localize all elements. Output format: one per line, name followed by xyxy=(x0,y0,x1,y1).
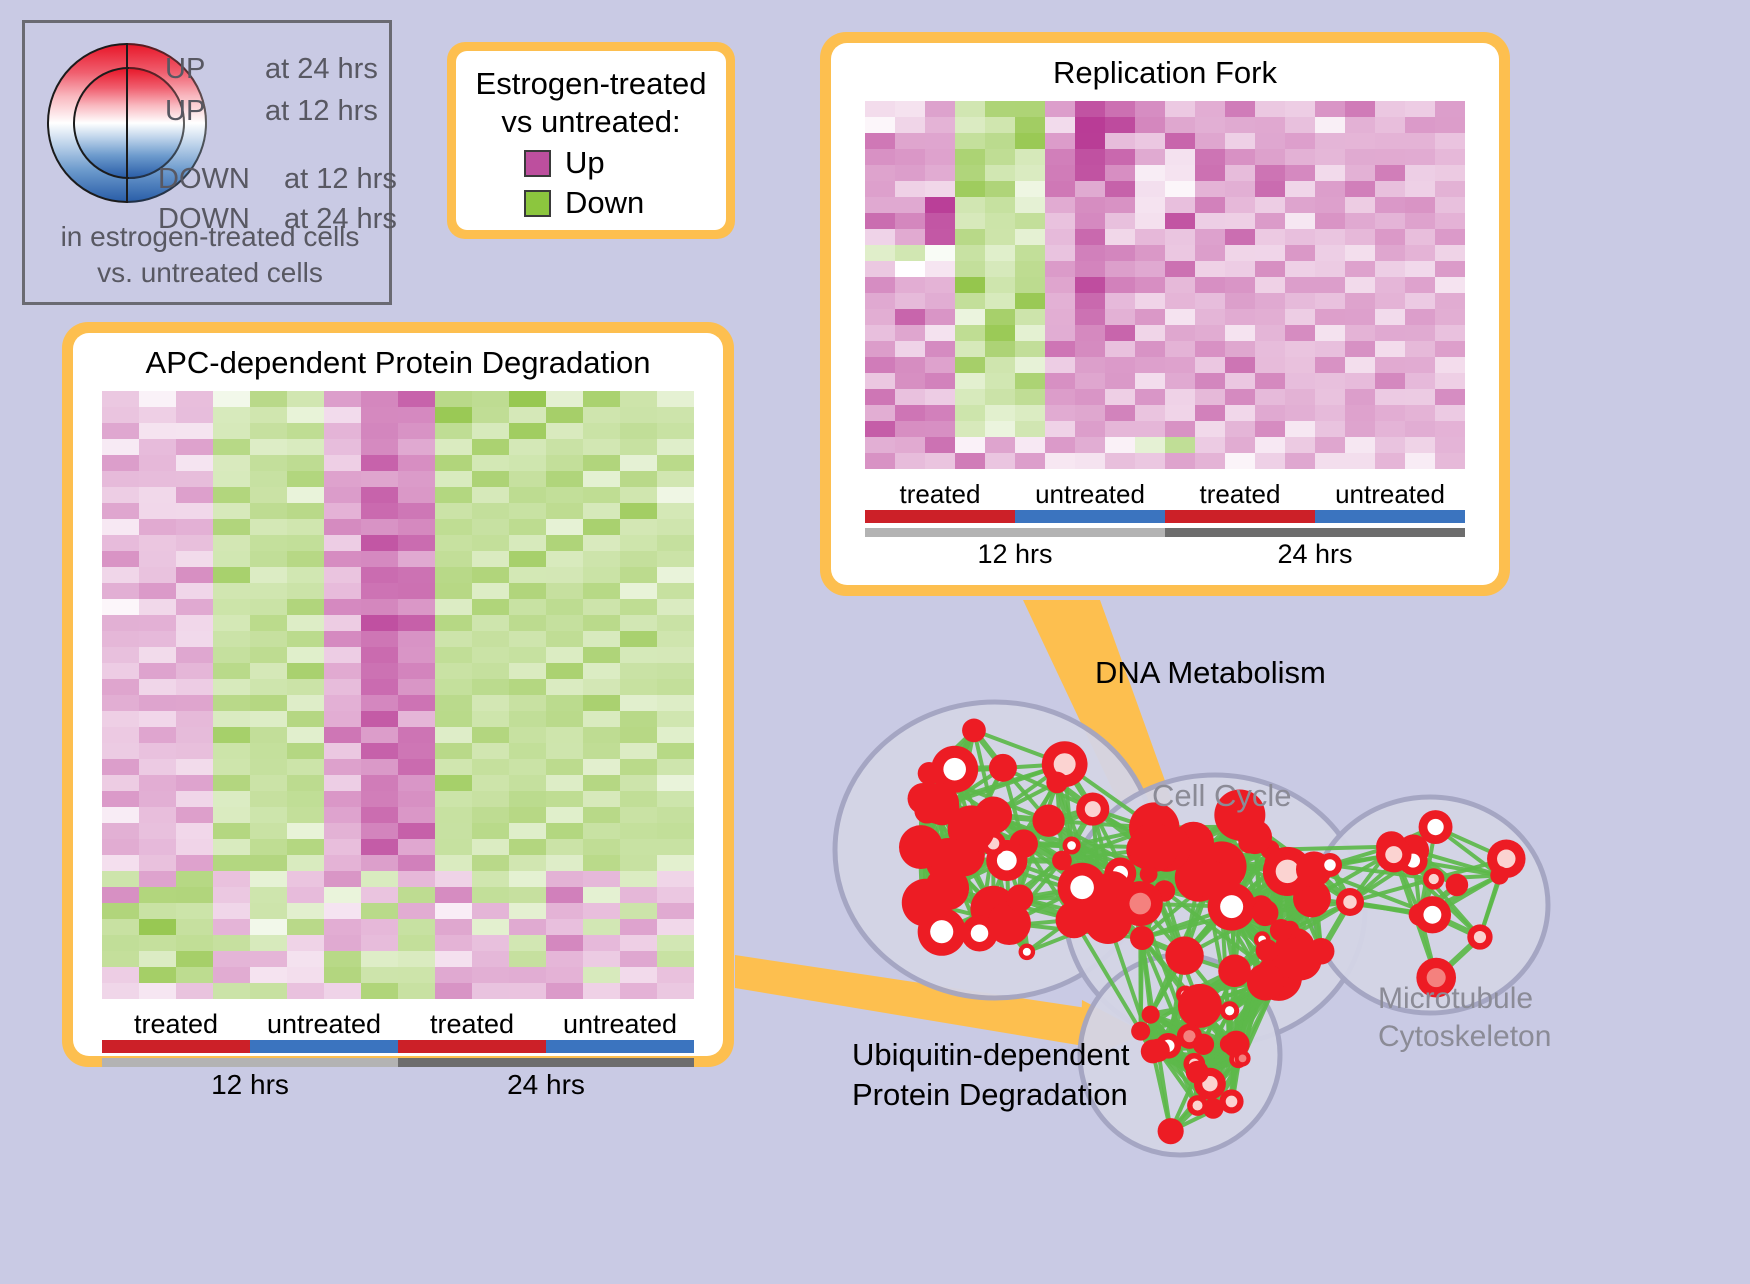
heatmap-cell xyxy=(472,423,509,439)
heatmap-cell xyxy=(1015,357,1045,373)
heatmap-cell xyxy=(1225,421,1255,437)
untreated-color-bar xyxy=(1015,510,1165,523)
heatmap-cell xyxy=(1195,245,1225,261)
heatmap-cell xyxy=(1015,309,1045,325)
ubiquitin-line2: Protein Degradation xyxy=(852,1075,1130,1115)
network-node[interactable] xyxy=(1140,865,1158,883)
heatmap-cell xyxy=(620,679,657,695)
heatmap-cell xyxy=(213,535,250,551)
heatmap-cell xyxy=(398,871,435,887)
heatmap-cell xyxy=(657,935,694,951)
heatmap-cell xyxy=(139,887,176,903)
time-group-label: 12 hrs xyxy=(865,539,1165,570)
heatmap-cell xyxy=(925,373,955,389)
heatmap-cell xyxy=(250,871,287,887)
heatmap-cell xyxy=(287,839,324,855)
heatmap-cell xyxy=(895,293,925,309)
heatmap-cell xyxy=(1345,357,1375,373)
heatmap-cell xyxy=(139,535,176,551)
heatmap-cell xyxy=(213,471,250,487)
heatmap-cell xyxy=(139,487,176,503)
heatmap-cell xyxy=(1105,165,1135,181)
network-node[interactable] xyxy=(1336,888,1364,916)
heatmap-cell xyxy=(102,503,139,519)
network-node[interactable] xyxy=(1219,1089,1243,1113)
heatmap-cell xyxy=(1195,181,1225,197)
heatmap-cell xyxy=(546,439,583,455)
heatmap-cell xyxy=(985,309,1015,325)
heatmap-cell xyxy=(250,679,287,695)
heatmap-cell xyxy=(1135,453,1165,469)
heatmap-cell xyxy=(620,487,657,503)
heatmap-cell xyxy=(1255,309,1285,325)
heatmap-cell xyxy=(1225,197,1255,213)
heatmap-cell xyxy=(620,471,657,487)
heatmap-cell xyxy=(472,455,509,471)
heatmap-cell xyxy=(1135,309,1165,325)
heatmap-cell xyxy=(1285,101,1315,117)
heatmap-cell xyxy=(1405,405,1435,421)
heatmap-cell xyxy=(1045,357,1075,373)
network-node[interactable] xyxy=(1131,1022,1150,1041)
heatmap-cell xyxy=(865,437,895,453)
heatmap-cell xyxy=(509,871,546,887)
heatmap-cell xyxy=(955,181,985,197)
heatmap-cell xyxy=(865,453,895,469)
network-node[interactable] xyxy=(1084,896,1132,944)
network-node[interactable] xyxy=(1252,899,1279,926)
heatmap-cell xyxy=(1165,309,1195,325)
heatmap-cell xyxy=(361,775,398,791)
heatmap-cell xyxy=(509,807,546,823)
heatmap-cell xyxy=(1405,293,1435,309)
heatmap-cell xyxy=(657,711,694,727)
heatmap-cell xyxy=(324,823,361,839)
heatmap-cell xyxy=(1105,341,1135,357)
network-node[interactable] xyxy=(1247,963,1284,1000)
heatmap-cell xyxy=(287,871,324,887)
network-node[interactable] xyxy=(1220,1001,1239,1020)
heatmap-cell xyxy=(955,117,985,133)
network-node[interactable] xyxy=(1129,823,1178,872)
heatmap-cell xyxy=(1195,341,1225,357)
network-node[interactable] xyxy=(1423,868,1444,889)
heatmap-cell xyxy=(1045,421,1075,437)
heatmap-cell xyxy=(1345,309,1375,325)
heatmap-cell xyxy=(213,935,250,951)
heatmap-cell xyxy=(213,967,250,983)
heatmap-cell xyxy=(139,695,176,711)
heatmap-cell xyxy=(925,325,955,341)
network-node[interactable] xyxy=(1006,885,1033,912)
heatmap-cell xyxy=(1345,197,1375,213)
legend-item-up: Up xyxy=(524,145,716,181)
heatmap-cell xyxy=(139,935,176,951)
heatmap-cell xyxy=(213,679,250,695)
heatmap-cell xyxy=(1195,421,1225,437)
heatmap-cell xyxy=(1135,437,1165,453)
heatmap-cell xyxy=(435,967,472,983)
heatmap-cell xyxy=(583,711,620,727)
heatmap-cell xyxy=(657,647,694,663)
network-node[interactable] xyxy=(1238,820,1272,854)
heatmap-cell xyxy=(865,133,895,149)
gradient-circle-legend: UP at 24 hrs UP at 12 hrs DOWN at 12 hrs… xyxy=(22,20,392,305)
heatmap-cell xyxy=(435,407,472,423)
heatmap-cell xyxy=(1015,373,1045,389)
heatmap-cell xyxy=(287,855,324,871)
heatmap-cell xyxy=(865,229,895,245)
panel-apc-degradation: APC-dependent Protein Degradation treate… xyxy=(62,322,734,1067)
heatmap-cell xyxy=(324,951,361,967)
network-node[interactable] xyxy=(1191,1066,1207,1082)
heatmap-cell xyxy=(287,935,324,951)
heatmap-cell xyxy=(509,487,546,503)
heatmap-cell xyxy=(1225,261,1255,277)
heatmap-cell xyxy=(361,711,398,727)
heatmap-cell xyxy=(657,455,694,471)
heatmap-cell xyxy=(657,887,694,903)
heatmap-cell xyxy=(1255,421,1285,437)
heatmap-cell xyxy=(1015,453,1045,469)
network-node[interactable] xyxy=(1032,805,1064,837)
heatmap-cell xyxy=(1255,245,1285,261)
heatmap-cell xyxy=(1105,133,1135,149)
heatmap-cell xyxy=(583,775,620,791)
heatmap-cell xyxy=(1315,453,1345,469)
heatmap-cell xyxy=(102,391,139,407)
heatmap-cell xyxy=(509,503,546,519)
heatmap-cell xyxy=(1015,101,1045,117)
heatmap-cell xyxy=(139,407,176,423)
heatmap-cell xyxy=(287,679,324,695)
heatmap-cell xyxy=(287,983,324,999)
heatmap-cell xyxy=(435,439,472,455)
heatmap-cell xyxy=(287,807,324,823)
heatmap-cell xyxy=(955,197,985,213)
heatmap-cell xyxy=(1135,101,1165,117)
heatmap-cell xyxy=(955,293,985,309)
heatmap-cell xyxy=(361,663,398,679)
heatmap-cell xyxy=(1435,357,1465,373)
heatmap-cell xyxy=(1285,261,1315,277)
heatmap-cell xyxy=(509,663,546,679)
heatmap-cell xyxy=(287,727,324,743)
heatmap-cell xyxy=(895,213,925,229)
heatmap-cell xyxy=(583,599,620,615)
heatmap-cell xyxy=(1285,405,1315,421)
column-group-label: treated xyxy=(398,1009,546,1040)
heatmap-cell xyxy=(985,181,1015,197)
heatmap-cell xyxy=(213,823,250,839)
heatmap-cell xyxy=(1225,437,1255,453)
heatmap-cell xyxy=(1285,325,1315,341)
heatmap-cell xyxy=(398,791,435,807)
heatmap-cell xyxy=(1255,197,1285,213)
heatmap-cell xyxy=(472,551,509,567)
heatmap-cell xyxy=(985,389,1015,405)
heatmap-cell xyxy=(1165,437,1195,453)
heatmap-cell xyxy=(509,679,546,695)
heatmap-cell xyxy=(250,807,287,823)
heatmap-cell xyxy=(620,711,657,727)
time-group-labels: 12 hrs24 hrs xyxy=(865,539,1465,570)
heatmap-cell xyxy=(472,647,509,663)
heatmap-cell xyxy=(176,951,213,967)
heatmap-cell xyxy=(1405,245,1435,261)
heatmap-cell xyxy=(546,615,583,631)
heatmap-cell xyxy=(1135,181,1165,197)
network-node[interactable] xyxy=(1256,939,1279,962)
heatmap-cell xyxy=(1405,389,1435,405)
heatmap-cell xyxy=(1255,293,1285,309)
heatmap-cell xyxy=(1345,133,1375,149)
heatmap-cell xyxy=(1255,101,1285,117)
time-group-bar xyxy=(1165,528,1465,537)
network-node[interactable] xyxy=(1063,836,1081,854)
heatmap-cell xyxy=(250,983,287,999)
heatmap-cell xyxy=(1015,117,1045,133)
heatmap-cell xyxy=(925,309,955,325)
network-node[interactable] xyxy=(1178,984,1222,1028)
heatmap-cell xyxy=(472,503,509,519)
heatmap-cell xyxy=(1165,133,1195,149)
heatmap-cell xyxy=(1435,245,1465,261)
heatmap-cell xyxy=(583,727,620,743)
heatmap-cell xyxy=(435,759,472,775)
heatmap-cell xyxy=(287,903,324,919)
network-node[interactable] xyxy=(1376,837,1411,872)
heatmap-cell xyxy=(1165,277,1195,293)
heatmap-cell xyxy=(287,503,324,519)
heatmap-cell xyxy=(1285,213,1315,229)
heatmap-cell xyxy=(546,407,583,423)
heatmap-cell xyxy=(435,743,472,759)
heatmap-cell xyxy=(509,535,546,551)
heatmap-cell xyxy=(139,663,176,679)
heatmap-cell xyxy=(1345,405,1375,421)
network-node[interactable] xyxy=(1193,1034,1214,1055)
network-node[interactable] xyxy=(918,908,966,956)
heatmap-cell xyxy=(955,213,985,229)
heatmap-cell xyxy=(139,503,176,519)
heatmap-cell xyxy=(1225,309,1255,325)
heatmap-cell xyxy=(1435,325,1465,341)
heatmap-cell xyxy=(1105,181,1135,197)
heatmap-cell xyxy=(985,149,1015,165)
heatmap-cell xyxy=(1375,245,1405,261)
heatmap-cell xyxy=(1225,405,1255,421)
network-node[interactable] xyxy=(1019,944,1036,961)
heatmap-cell xyxy=(1225,165,1255,181)
network-node[interactable] xyxy=(1076,793,1109,826)
heatmap-cell xyxy=(546,487,583,503)
network-node[interactable] xyxy=(1218,954,1251,987)
heatmap-cell xyxy=(139,583,176,599)
heatmap-cell xyxy=(620,647,657,663)
treated-color-bar xyxy=(865,510,1015,523)
network-node[interactable] xyxy=(1046,772,1068,794)
heatmap-cell xyxy=(435,919,472,935)
heatmap-cell xyxy=(250,935,287,951)
heatmap-cell xyxy=(472,823,509,839)
heatmap-cell xyxy=(102,647,139,663)
heatmap-cell xyxy=(1315,357,1345,373)
network-node[interactable] xyxy=(908,783,939,814)
heatmap-cell xyxy=(1405,309,1435,325)
network-node[interactable] xyxy=(1130,926,1154,950)
heatmap-cell xyxy=(1315,341,1345,357)
heatmap-cell xyxy=(583,951,620,967)
heatmap-cell xyxy=(1405,117,1435,133)
heatmap-cell xyxy=(1135,373,1165,389)
network-node[interactable] xyxy=(1318,853,1342,877)
heatmap-cell xyxy=(985,421,1015,437)
heatmap-cell xyxy=(1075,261,1105,277)
heatmap-cell xyxy=(1285,373,1315,389)
heatmap-cell xyxy=(546,775,583,791)
heatmap-cell xyxy=(102,567,139,583)
heatmap-cell xyxy=(509,743,546,759)
heatmap-cell xyxy=(620,439,657,455)
heatmap-cell xyxy=(139,615,176,631)
heatmap-cell xyxy=(1135,261,1165,277)
heatmap-cell xyxy=(1345,389,1375,405)
heatmap-cell xyxy=(1435,277,1465,293)
heatmap-cell xyxy=(1045,245,1075,261)
heatmap-cell xyxy=(1405,213,1435,229)
heatmap-cell xyxy=(657,423,694,439)
heatmap-cell xyxy=(361,471,398,487)
updown-legend-title: Estrogen-treated vs untreated: xyxy=(466,65,716,141)
heatmap-cell xyxy=(509,471,546,487)
heatmap-cell xyxy=(895,261,925,277)
heatmap-cell xyxy=(139,759,176,775)
network-node[interactable] xyxy=(1490,866,1508,884)
heatmap-cell xyxy=(287,711,324,727)
heatmap-cell xyxy=(583,967,620,983)
heatmap-cell xyxy=(176,839,213,855)
network-node[interactable] xyxy=(1158,1118,1184,1144)
network-node[interactable] xyxy=(962,719,986,743)
heatmap-cell xyxy=(1375,229,1405,245)
heatmap-cell xyxy=(472,791,509,807)
network-node[interactable] xyxy=(1234,1050,1250,1066)
heatmap-cell xyxy=(1345,149,1375,165)
network-node[interactable] xyxy=(918,762,941,785)
network-node[interactable] xyxy=(1187,1095,1208,1116)
heatmap-cell xyxy=(865,197,895,213)
heatmap-cell xyxy=(1195,453,1225,469)
heatmap-cell xyxy=(1405,453,1435,469)
column-group-label: untreated xyxy=(546,1009,694,1040)
network-node[interactable] xyxy=(1165,936,1203,974)
network-node[interactable] xyxy=(1142,1006,1160,1024)
network-node[interactable] xyxy=(1414,896,1451,933)
heatmap-cell xyxy=(398,775,435,791)
heatmap-cell xyxy=(176,551,213,567)
heatmap-cell xyxy=(1345,261,1375,277)
heatmap-cell xyxy=(213,487,250,503)
heatmap-cell xyxy=(1045,309,1075,325)
heatmap-cell xyxy=(139,823,176,839)
heatmap-cell xyxy=(657,855,694,871)
heatmap-cell xyxy=(1375,421,1405,437)
network-node[interactable] xyxy=(899,825,943,869)
heatmap-cell xyxy=(102,711,139,727)
heatmap-cell xyxy=(583,903,620,919)
network-node[interactable] xyxy=(1208,883,1256,931)
heatmap-cell xyxy=(509,439,546,455)
heatmap-cell xyxy=(176,519,213,535)
time-group-labels: 12 hrs24 hrs xyxy=(102,1069,694,1101)
heatmap-cell xyxy=(324,903,361,919)
heatmap-cell xyxy=(250,839,287,855)
heatmap-cell xyxy=(287,407,324,423)
heatmap-cell xyxy=(1285,133,1315,149)
heatmap-cell xyxy=(1015,437,1045,453)
heatmap-cell xyxy=(1165,389,1195,405)
network-node[interactable] xyxy=(1467,924,1492,949)
heatmap-cell xyxy=(1165,165,1195,181)
heatmap-cell xyxy=(583,759,620,775)
heatmap-cell xyxy=(139,455,176,471)
heatmap-cell xyxy=(509,919,546,935)
heatmap-cell xyxy=(213,551,250,567)
heatmap-cell xyxy=(955,149,985,165)
heatmap-cell xyxy=(1135,213,1165,229)
heatmap-cell xyxy=(1345,453,1375,469)
heatmap-cell xyxy=(102,631,139,647)
network-node[interactable] xyxy=(1147,1039,1170,1062)
heatmap-cell xyxy=(620,983,657,999)
network-node[interactable] xyxy=(1446,874,1469,897)
heatmap-cell xyxy=(1075,389,1105,405)
microtubule-line1: Microtubule xyxy=(1378,980,1551,1018)
heatmap-cell xyxy=(583,855,620,871)
heatmap-cell xyxy=(176,983,213,999)
heatmap-cell xyxy=(1345,117,1375,133)
heatmap-cell xyxy=(925,165,955,181)
heatmap-cell xyxy=(102,775,139,791)
heatmap-cell xyxy=(398,759,435,775)
heatmap-cell xyxy=(1225,373,1255,389)
heatmap-cell xyxy=(361,743,398,759)
heatmap-cell xyxy=(509,727,546,743)
network-node[interactable] xyxy=(1278,937,1322,981)
network-node[interactable] xyxy=(989,754,1017,782)
time-group-bar xyxy=(102,1058,398,1067)
heatmap-cell xyxy=(435,615,472,631)
heatmap-cell xyxy=(546,919,583,935)
heatmap-cell xyxy=(398,695,435,711)
heatmap-cell xyxy=(1165,229,1195,245)
heatmap-cell xyxy=(324,551,361,567)
heatmap-cell xyxy=(583,871,620,887)
heatmap-cell xyxy=(865,389,895,405)
heatmap-cell xyxy=(1405,149,1435,165)
heatmap-cell xyxy=(176,743,213,759)
up-color-swatch xyxy=(524,150,551,177)
heatmap-cell xyxy=(1345,213,1375,229)
heatmap-cell xyxy=(1135,197,1165,213)
heatmap-cell xyxy=(620,839,657,855)
network-node[interactable] xyxy=(961,915,998,952)
heatmap-cell xyxy=(1075,197,1105,213)
time-color-bars xyxy=(865,528,1465,537)
heatmap-cell xyxy=(435,711,472,727)
heatmap-cell xyxy=(1045,181,1075,197)
